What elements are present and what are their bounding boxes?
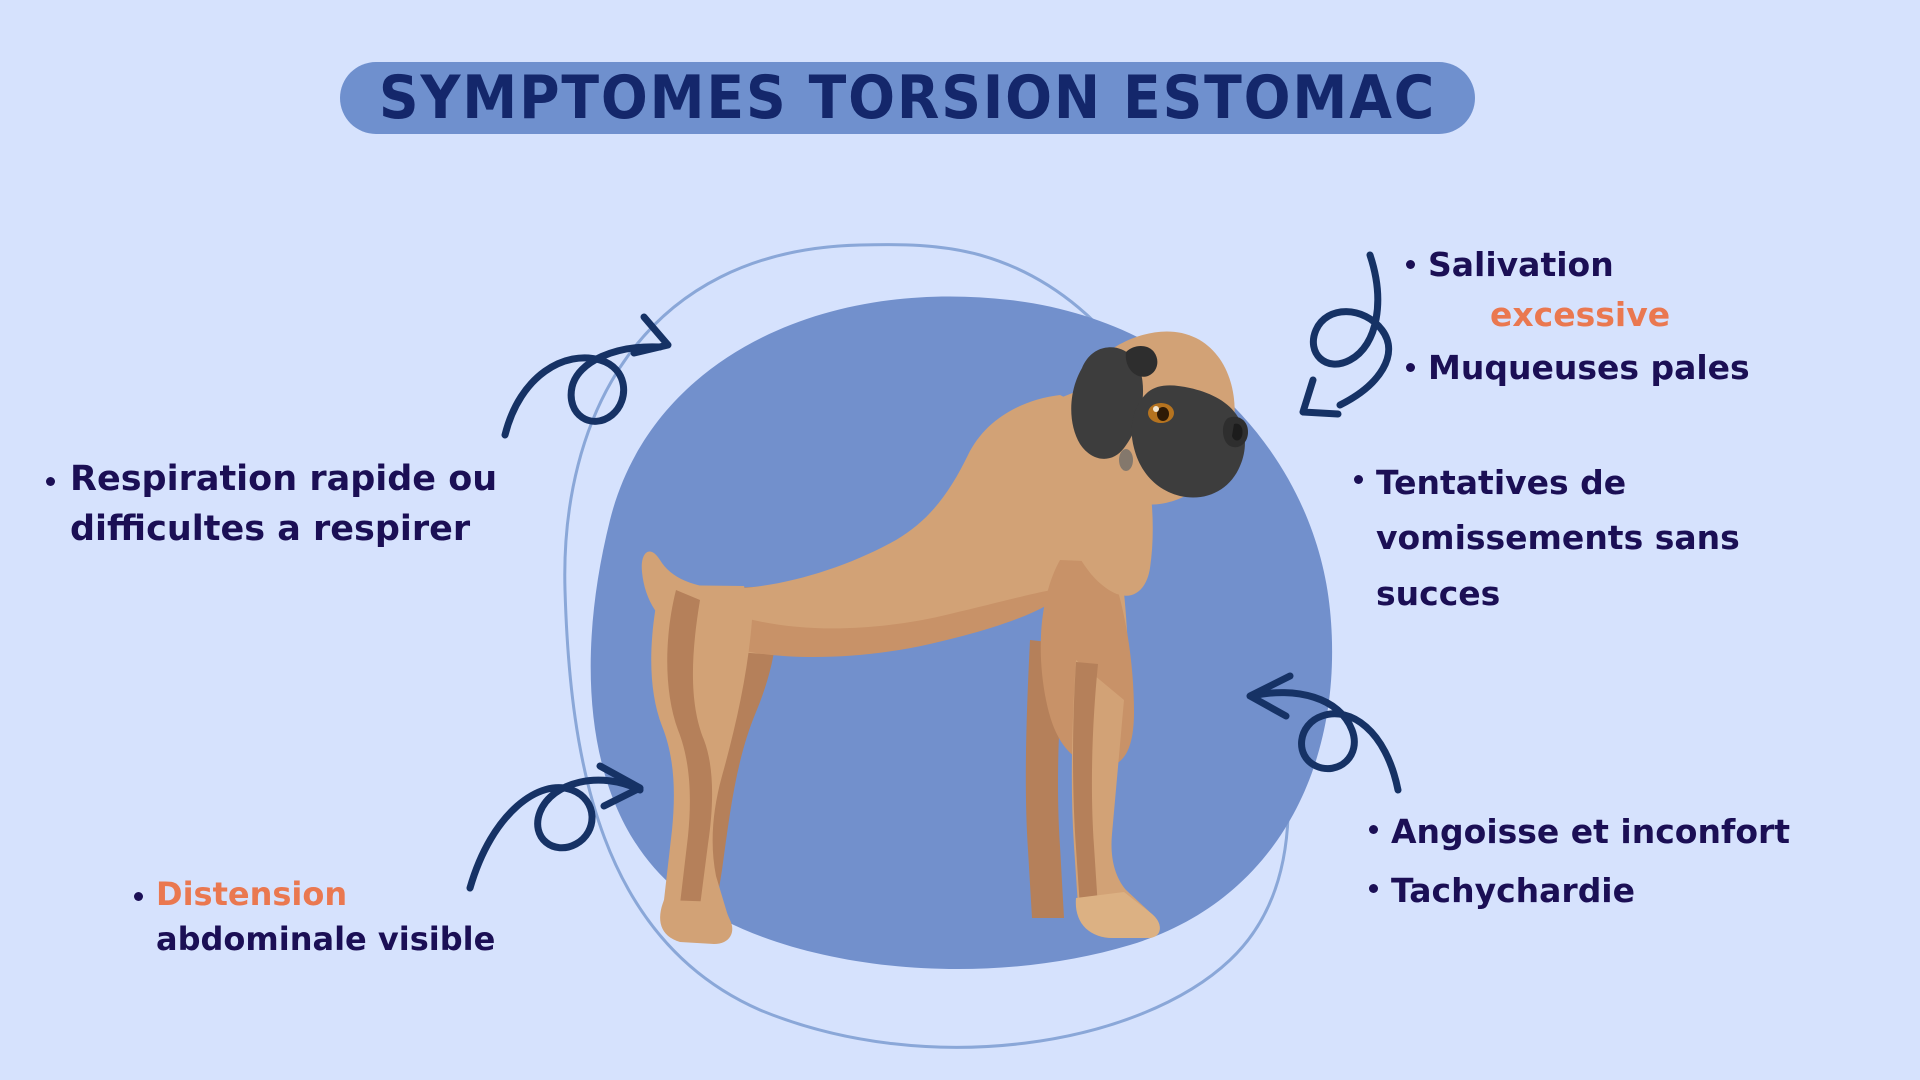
list-item: Muqueuses pales — [1400, 343, 1870, 393]
callout-top-right: Salivation excessive Muqueuses pales — [1400, 240, 1870, 397]
dog-chest — [1041, 560, 1134, 767]
arrow-to-hindquarters-head — [1250, 676, 1290, 716]
callout-arrows — [470, 255, 1398, 888]
list-item: Salivation excessive — [1400, 240, 1870, 339]
callout-vomissements-text: Tentatives de vomissements sans succes — [1376, 463, 1740, 613]
callout-bottom-left-list: Distension abdominale visible — [128, 872, 558, 963]
infographic-canvas: SYMPTOMES TORSION ESTOMAC — [0, 0, 1920, 1080]
dog-neck — [1049, 386, 1153, 596]
callout-mid-right-list: Tentatives de vomissements sans succes — [1348, 455, 1798, 621]
arrow-to-hindquarters-icon — [1252, 693, 1398, 790]
callout-left-line1: Respiration rapide ou — [70, 459, 497, 499]
callout-left-line2: difficultes a respirer — [70, 509, 470, 549]
list-item: Tachychardie — [1363, 864, 1863, 919]
callout-top-right-list: Salivation excessive Muqueuses pales — [1400, 240, 1870, 393]
callout-salivation-text: Salivation — [1428, 245, 1614, 284]
callout-distension-highlight: Distension — [156, 875, 347, 913]
list-item: Angoisse et inconfort — [1363, 805, 1863, 860]
dog-front-leg-far — [1026, 640, 1066, 918]
blob-fill — [591, 296, 1332, 969]
blob-outline — [565, 245, 1288, 1048]
arrow-to-head-head — [1303, 380, 1338, 414]
dog-nose — [1223, 417, 1248, 447]
dog-muzzle-mask — [1132, 385, 1245, 497]
callout-angoisse-text: Angoisse et inconfort — [1391, 812, 1790, 851]
dog-cheek-spot — [1119, 449, 1133, 471]
dog-eye-pupil — [1157, 407, 1169, 421]
list-item: Tentatives de vomissements sans succes — [1348, 455, 1798, 621]
dog-hind-paw — [660, 900, 732, 944]
dog-hind-leg-far — [672, 586, 776, 932]
dog-eye-highlight — [1153, 406, 1159, 412]
dog-ear — [1071, 347, 1143, 459]
dog-hind-leg-near — [651, 585, 752, 940]
callout-mid-right: Tentatives de vomissements sans succes — [1348, 455, 1798, 625]
callout-salivation-highlight: excessive — [1428, 290, 1870, 340]
dog-illustration — [642, 331, 1248, 944]
dog-eye — [1148, 403, 1174, 423]
list-item: Respiration rapide ou difficultes a resp… — [40, 455, 560, 554]
callout-bottom-left: Distension abdominale visible — [128, 872, 558, 967]
dog-front-leg-near-shade — [1073, 662, 1098, 908]
list-item: Distension abdominale visible — [128, 872, 558, 963]
dog-body — [642, 395, 1129, 700]
callout-muqueuses-text: Muqueuses pales — [1428, 348, 1750, 387]
arrow-to-chest-icon — [505, 347, 660, 435]
arrow-to-chest-head — [634, 317, 668, 353]
dog-hind-leg-near-shade — [667, 590, 712, 906]
dog-front-paw — [1076, 892, 1160, 938]
dog-front-leg-near — [1072, 660, 1160, 938]
callout-left: Respiration rapide ou difficultes a resp… — [40, 455, 560, 558]
dog-head — [1077, 331, 1235, 504]
page-title: SYMPTOMES TORSION ESTOMAC — [385, 60, 1429, 136]
callout-bottom-right: Angoisse et inconfort Tachychardie — [1363, 805, 1863, 923]
callout-bottom-right-list: Angoisse et inconfort Tachychardie — [1363, 805, 1863, 919]
dog-ear-tab — [1126, 346, 1158, 377]
dog-belly-shade — [699, 588, 1070, 657]
arrow-to-head-icon — [1313, 255, 1388, 405]
callout-left-list: Respiration rapide ou difficultes a resp… — [40, 455, 560, 554]
arrow-to-abdomen-head — [600, 766, 640, 806]
callout-tachychardie-text: Tachychardie — [1391, 871, 1635, 910]
dog-nostril — [1232, 424, 1243, 441]
callout-distension-rest: abdominale visible — [156, 920, 495, 958]
